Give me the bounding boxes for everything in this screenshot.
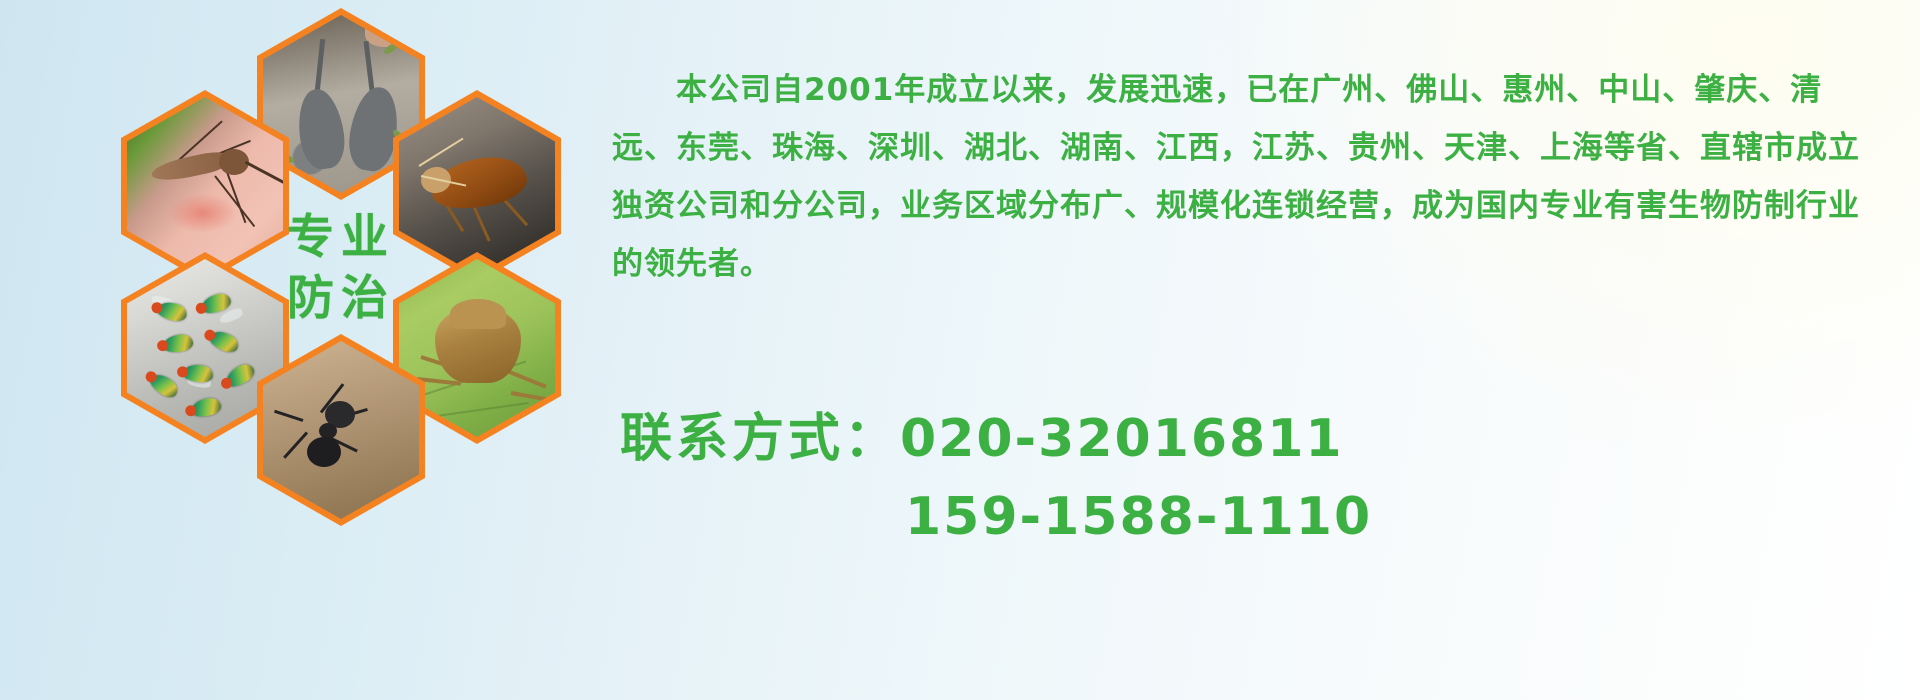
- contact-phone-primary[interactable]: 020-32016811: [900, 409, 1344, 469]
- contact-phone-secondary[interactable]: 159-1588-1110: [905, 487, 1372, 547]
- slogan-line-1: 专业: [287, 214, 395, 261]
- slogan-line-2: 防治: [287, 275, 395, 322]
- promo-banner: 专业 防治: [0, 0, 1920, 700]
- company-intro-block: 本公司自2001年成立以来，发展迅速，已在广州、佛山、惠州、中山、肇庆、清远、东…: [612, 30, 1862, 324]
- contact-secondary-line: 159-1588-1110: [620, 478, 1870, 556]
- company-intro-paragraph: 本公司自2001年成立以来，发展迅速，已在广州、佛山、惠州、中山、肇庆、清远、东…: [612, 61, 1862, 293]
- contact-primary-line: 联系方式：020-32016811: [620, 400, 1870, 478]
- contact-label: 联系方式：: [620, 409, 900, 469]
- honeycomb-image-cluster: 专业 防治: [85, 0, 605, 570]
- contact-block: 联系方式：020-32016811 159-1588-1110: [620, 400, 1870, 556]
- ant-photo: [263, 341, 419, 519]
